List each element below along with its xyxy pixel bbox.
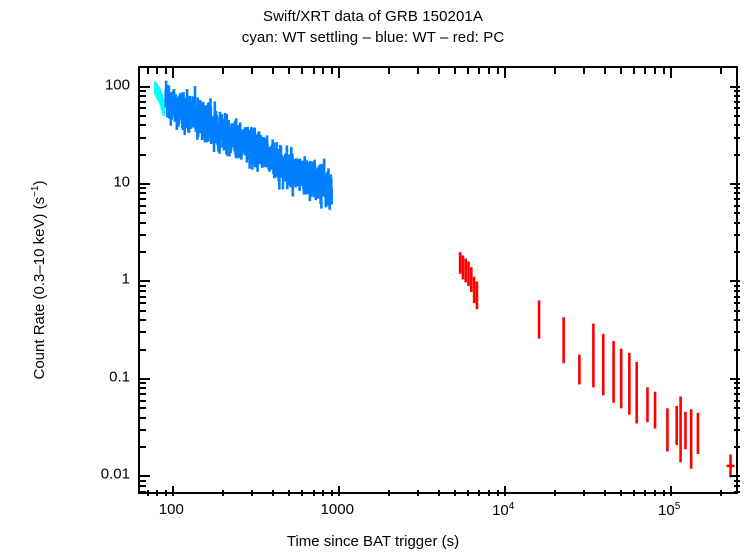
x-axis-tick xyxy=(172,486,174,496)
x-axis-tick xyxy=(172,68,174,78)
x-axis-tick xyxy=(156,68,158,74)
y-axis-tick xyxy=(140,187,146,189)
y-axis-tick xyxy=(140,290,146,292)
y-axis-tick xyxy=(734,192,740,194)
y-axis-tick xyxy=(140,154,146,156)
x-axis-tick xyxy=(165,68,167,74)
x-axis-tick xyxy=(251,490,253,496)
x-axis-tick xyxy=(504,486,506,496)
y-axis-tick xyxy=(140,382,146,384)
y-axis-tick xyxy=(140,115,146,117)
y-axis-tick xyxy=(140,446,146,448)
x-tick-label: 104 xyxy=(492,501,514,519)
y-axis-tick xyxy=(734,400,740,402)
y-axis-tick xyxy=(734,485,740,487)
y-axis-tick xyxy=(734,115,740,117)
x-axis-tick xyxy=(478,490,480,496)
y-axis-tick xyxy=(140,222,146,224)
y-axis-tick xyxy=(140,349,146,351)
y-axis-tick xyxy=(734,234,740,236)
x-axis-tick xyxy=(583,68,585,74)
y-axis-tick xyxy=(730,183,740,185)
x-axis-tick xyxy=(454,68,456,74)
y-tick-label: 0.01 xyxy=(70,466,130,483)
y-axis-tick xyxy=(140,480,146,482)
y-axis-tick xyxy=(734,446,740,448)
data-point xyxy=(727,454,735,477)
y-axis-tick xyxy=(730,378,740,380)
y-axis-tick xyxy=(734,95,740,97)
x-axis-tick xyxy=(313,68,315,74)
x-axis-tick xyxy=(488,68,490,74)
x-axis-tick xyxy=(338,68,340,78)
x-axis-tick xyxy=(488,490,490,496)
x-axis-tick xyxy=(633,68,635,74)
x-axis-tick xyxy=(338,486,340,496)
y-axis-tick xyxy=(140,485,146,487)
y-axis-tick xyxy=(140,137,146,139)
y-axis-tick xyxy=(140,285,146,287)
y-axis-tick xyxy=(734,429,740,431)
y-axis-tick xyxy=(140,86,150,88)
x-axis-tick xyxy=(633,490,635,496)
x-axis-tick xyxy=(670,486,672,496)
x-axis-tick xyxy=(478,68,480,74)
y-axis-tick xyxy=(734,187,740,189)
y-axis-tick xyxy=(730,280,740,282)
y-axis-tick xyxy=(734,290,740,292)
y-tick-label: 10 xyxy=(70,174,130,191)
x-axis-tick xyxy=(554,68,556,74)
x-axis-tick xyxy=(272,68,274,74)
y-axis-tick xyxy=(734,154,740,156)
y-axis-tick xyxy=(140,280,150,282)
y-axis-tick xyxy=(140,400,146,402)
y-axis-tick xyxy=(140,212,146,214)
x-axis-tick xyxy=(331,68,333,74)
x-axis-title: Time since BAT trigger (s) xyxy=(0,533,746,550)
y-axis-tick xyxy=(734,310,740,312)
x-axis-tick xyxy=(301,490,303,496)
x-axis-tick xyxy=(147,490,149,496)
x-axis-tick xyxy=(301,68,303,74)
x-axis-tick xyxy=(388,490,390,496)
y-axis-tick xyxy=(140,407,146,409)
y-axis-tick xyxy=(140,192,146,194)
y-axis-tick xyxy=(140,491,146,493)
y-axis-tick xyxy=(734,319,740,321)
y-axis-tick xyxy=(140,124,146,126)
y-axis-tick xyxy=(140,319,146,321)
y-axis-tick xyxy=(140,417,146,419)
y-axis-tick xyxy=(140,205,146,207)
x-axis-tick xyxy=(620,68,622,74)
x-axis-tick xyxy=(720,68,722,74)
x-axis-tick xyxy=(251,68,253,74)
x-axis-tick xyxy=(504,68,506,78)
y-axis-tick xyxy=(140,251,146,253)
chart-legend-subtitle: cyan: WT settling – blue: WT – red: PC xyxy=(0,29,746,46)
y-axis-tick xyxy=(734,198,740,200)
x-axis-tick xyxy=(222,490,224,496)
x-axis-tick xyxy=(388,68,390,74)
y-axis-tick xyxy=(734,90,740,92)
y-axis-tick xyxy=(734,124,740,126)
y-axis-tick xyxy=(140,378,150,380)
x-axis-tick xyxy=(417,490,419,496)
x-axis-tick xyxy=(604,490,606,496)
plot-area xyxy=(138,66,738,494)
y-tick-label: 0.1 xyxy=(70,368,130,385)
x-axis-tick xyxy=(322,490,324,496)
data-layer xyxy=(140,68,736,492)
x-axis-tick xyxy=(497,68,499,74)
y-tick-label: 1 xyxy=(70,271,130,288)
y-axis-tick xyxy=(140,296,146,298)
x-axis-tick xyxy=(288,490,290,496)
y-axis-tick xyxy=(734,296,740,298)
y-axis-tick xyxy=(734,251,740,253)
y-axis-tick xyxy=(734,393,740,395)
x-axis-tick xyxy=(454,490,456,496)
x-axis-tick xyxy=(322,68,324,74)
y-axis-tick xyxy=(734,212,740,214)
x-tick-label: 1000 xyxy=(321,501,354,518)
y-axis-tick xyxy=(140,107,146,109)
x-axis-tick xyxy=(663,68,665,74)
y-axis-tick xyxy=(734,407,740,409)
x-axis-tick xyxy=(670,68,672,78)
x-tick-label: 100 xyxy=(159,501,184,518)
x-axis-tick xyxy=(165,490,167,496)
x-tick-label: 105 xyxy=(658,501,680,519)
y-axis-tick xyxy=(734,480,740,482)
x-axis-tick xyxy=(654,490,656,496)
y-axis-tick xyxy=(734,222,740,224)
x-axis-tick xyxy=(438,68,440,74)
y-axis-tick xyxy=(734,417,740,419)
y-axis-tick xyxy=(140,234,146,236)
y-axis-tick xyxy=(140,183,150,185)
x-axis-tick xyxy=(497,490,499,496)
x-axis-tick xyxy=(654,68,656,74)
y-axis-tick xyxy=(140,429,146,431)
y-axis-tick xyxy=(734,205,740,207)
y-axis-tick xyxy=(140,393,146,395)
x-axis-tick xyxy=(554,490,556,496)
x-axis-tick xyxy=(313,490,315,496)
y-axis-title-close: ) xyxy=(31,181,48,186)
x-axis-tick xyxy=(438,490,440,496)
y-axis-tick xyxy=(734,382,740,384)
x-axis-tick xyxy=(644,490,646,496)
y-axis-tick xyxy=(140,475,150,477)
y-axis-tick xyxy=(734,302,740,304)
x-axis-tick xyxy=(720,490,722,496)
x-axis-tick xyxy=(620,490,622,496)
x-axis-tick xyxy=(222,68,224,74)
y-axis-tick xyxy=(734,101,740,103)
y-axis-tick xyxy=(734,285,740,287)
x-axis-tick xyxy=(331,490,333,496)
y-axis-tick xyxy=(140,90,146,92)
y-axis-tick xyxy=(140,310,146,312)
y-axis-tick xyxy=(734,387,740,389)
page-title: Swift/XRT data of GRB 150201A xyxy=(0,8,746,25)
x-axis-tick xyxy=(272,490,274,496)
x-axis-tick xyxy=(644,68,646,74)
y-axis-title: Count Rate (0.3–10 keV) (s−1) xyxy=(30,66,48,494)
x-axis-tick xyxy=(663,490,665,496)
y-axis-tick xyxy=(734,331,740,333)
x-axis-tick xyxy=(288,68,290,74)
y-axis-tick xyxy=(140,95,146,97)
y-axis-tick xyxy=(734,491,740,493)
y-axis-tick xyxy=(734,107,740,109)
y-axis-tick xyxy=(730,86,740,88)
x-axis-tick xyxy=(583,490,585,496)
y-axis-tick xyxy=(140,101,146,103)
y-axis-tick xyxy=(734,137,740,139)
y-axis-tick xyxy=(140,387,146,389)
y-axis-tick xyxy=(140,331,146,333)
chart-data-svg xyxy=(140,68,736,492)
x-axis-tick xyxy=(147,68,149,74)
x-axis-tick xyxy=(417,68,419,74)
x-axis-tick xyxy=(467,68,469,74)
y-tick-label: 100 xyxy=(70,76,130,93)
y-axis-tick xyxy=(140,198,146,200)
y-axis-tick xyxy=(140,302,146,304)
x-axis-tick xyxy=(604,68,606,74)
y-axis-title-superscript: −1 xyxy=(30,186,41,197)
x-axis-tick xyxy=(156,490,158,496)
y-axis-tick xyxy=(730,475,740,477)
y-axis-title-text: Count Rate (0.3–10 keV) (s xyxy=(31,197,48,380)
x-axis-tick xyxy=(467,490,469,496)
y-axis-tick xyxy=(734,349,740,351)
